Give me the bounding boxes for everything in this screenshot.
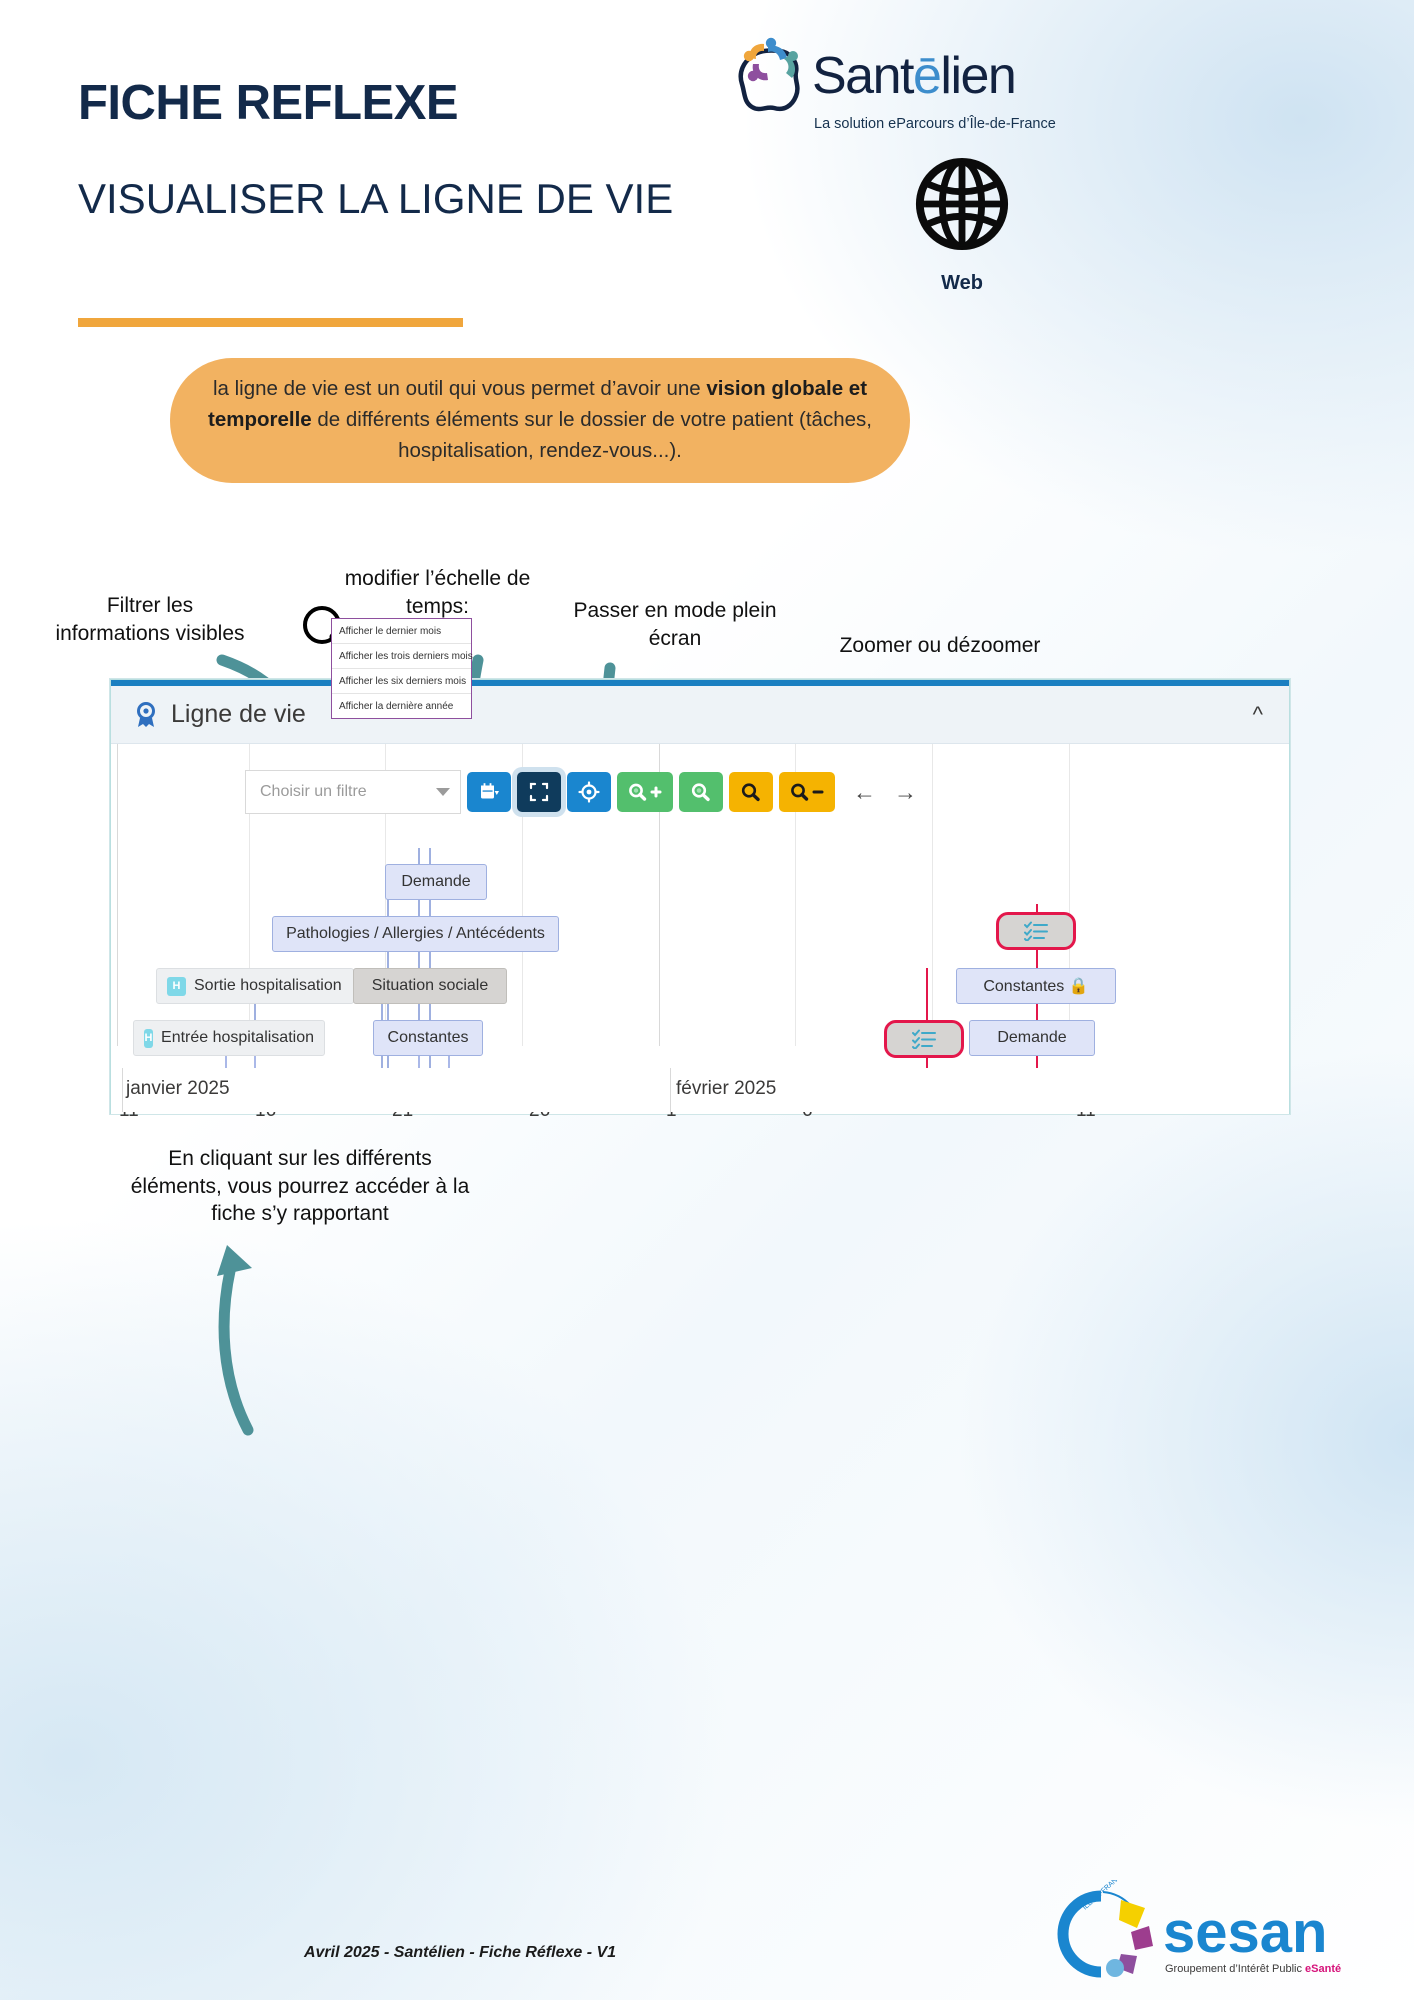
app-screenshot: Ligne de vie ^ Choisir un filtre bbox=[110, 679, 1290, 1114]
brand-wordmark: Santēlien bbox=[812, 46, 1015, 106]
annotation-fullscreen: Passer en mode plein écran bbox=[570, 597, 780, 652]
annotation-zoom: Zoomer ou dézoomer bbox=[820, 632, 1060, 660]
zoom-out-button[interactable] bbox=[779, 772, 835, 812]
filter-select[interactable]: Choisir un filtre bbox=[245, 770, 461, 814]
annotation-scale: modifier l’échelle de temps: bbox=[320, 565, 555, 620]
timeline-item-task-1[interactable] bbox=[996, 912, 1076, 950]
checklist-icon bbox=[1024, 921, 1048, 941]
zoom-in-button[interactable] bbox=[617, 772, 673, 812]
timeline-item-situation-sociale[interactable]: Situation sociale bbox=[353, 968, 507, 1004]
month-label: janvier 2025 bbox=[126, 1078, 230, 1100]
channel-label: Web bbox=[912, 272, 1012, 295]
globe-icon bbox=[913, 155, 1011, 253]
title-underline-rule bbox=[78, 318, 463, 327]
timeline-toolbar: Choisir un filtre bbox=[245, 770, 917, 814]
brand-tagline: La solution eParcours d’Île-de-France bbox=[814, 116, 1056, 132]
calendar-icon bbox=[479, 782, 499, 802]
sesan-logo-mark: ÎLE-DE-FRANCE sesan Groupement d’Intérêt… bbox=[1045, 1880, 1345, 1990]
timeline-item-label: Entrée hospitalisation bbox=[161, 1029, 314, 1047]
menu-item-three-months[interactable]: Afficher les trois derniers mois bbox=[332, 644, 471, 669]
sesan-tagline: Groupement d’Intérêt Public eSanté bbox=[1165, 1963, 1341, 1975]
magnifier-dark-icon bbox=[740, 782, 762, 802]
menu-item-last-year[interactable]: Afficher la dernière année bbox=[332, 694, 471, 718]
timeline-body: Choisir un filtre bbox=[111, 744, 1289, 1114]
panel-header: Ligne de vie ^ bbox=[111, 686, 1289, 744]
calendar-scale-button[interactable] bbox=[467, 772, 511, 812]
zoom-reset-button[interactable] bbox=[729, 772, 773, 812]
chevron-up-icon[interactable]: ^ bbox=[1253, 702, 1263, 728]
info-callout: la ligne de vie est un outil qui vous pe… bbox=[170, 358, 910, 483]
svg-text:sesan: sesan bbox=[1163, 1900, 1327, 1965]
ribbon-award-icon bbox=[133, 701, 159, 729]
santelien-mark-icon bbox=[730, 28, 810, 114]
timeline-month-band: janvier 2025 février 2025 bbox=[116, 1068, 1284, 1112]
hospital-badge-icon: H bbox=[144, 1029, 153, 1048]
time-scale-dropdown[interactable]: Afficher le dernier mois Afficher les tr… bbox=[331, 618, 472, 719]
magnifier-icon bbox=[690, 782, 712, 802]
channel-block: Web bbox=[912, 155, 1012, 295]
zoom-out-icon bbox=[790, 782, 824, 802]
chevron-down-icon bbox=[436, 788, 450, 796]
menu-item-six-months[interactable]: Afficher les six derniers mois bbox=[332, 669, 471, 694]
annotation-click: En cliquant sur les différents éléments,… bbox=[130, 1145, 470, 1228]
footer-text: Avril 2025 - Santélien - Fiche Réflexe -… bbox=[0, 1944, 920, 1962]
target-crosshair-icon bbox=[578, 781, 600, 803]
page-subtitle: VISUALISER LA LIGNE DE VIE bbox=[78, 175, 673, 223]
annotation-filter: Filtrer les informations visibles bbox=[55, 592, 245, 647]
zoom-fit-button[interactable] bbox=[679, 772, 723, 812]
santelien-logo: Santēlien La solution eParcours d’Île-de… bbox=[730, 28, 1060, 138]
timeline-item-label: Sortie hospitalisation bbox=[194, 977, 342, 995]
timeline-item-task-2[interactable] bbox=[884, 1020, 964, 1058]
fullscreen-icon bbox=[529, 782, 549, 802]
callout-part1: la ligne de vie est un outil qui vous pe… bbox=[213, 377, 706, 400]
timeline-item-demande-1[interactable]: Demande bbox=[385, 864, 487, 900]
panel-title: Ligne de vie bbox=[171, 700, 306, 729]
info-callout-text: la ligne de vie est un outil qui vous pe… bbox=[170, 374, 910, 466]
timeline-item-constantes-1[interactable]: Constantes bbox=[373, 1020, 483, 1056]
nav-prev-button[interactable]: ← bbox=[853, 779, 876, 806]
page-title: FICHE REFLEXE bbox=[78, 75, 458, 131]
zoom-in-icon bbox=[628, 782, 662, 802]
timeline-item-sortie-hospitalisation[interactable]: H Sortie hospitalisation bbox=[156, 968, 354, 1004]
timeline-item-demande-2[interactable]: Demande bbox=[969, 1020, 1095, 1056]
filter-placeholder: Choisir un filtre bbox=[260, 783, 367, 801]
center-target-button[interactable] bbox=[567, 772, 611, 812]
timeline-item-constantes-locked[interactable]: Constantes 🔒 bbox=[956, 968, 1116, 1004]
timeline-item-entree-hospitalisation[interactable]: H Entrée hospitalisation bbox=[133, 1020, 325, 1056]
month-label: février 2025 bbox=[676, 1078, 776, 1100]
nav-next-button[interactable]: → bbox=[894, 779, 917, 806]
fullscreen-button[interactable] bbox=[517, 772, 561, 812]
timeline-item-pathologies[interactable]: Pathologies / Allergies / Antécédents bbox=[272, 916, 559, 952]
checklist-icon bbox=[912, 1029, 936, 1049]
sesan-logo: ÎLE-DE-FRANCE sesan Groupement d’Intérêt… bbox=[1045, 1880, 1345, 1990]
callout-part2: de différents éléments sur le dossier de… bbox=[312, 408, 872, 462]
hospital-badge-icon: H bbox=[167, 977, 186, 996]
menu-item-last-month[interactable]: Afficher le dernier mois bbox=[332, 619, 471, 644]
